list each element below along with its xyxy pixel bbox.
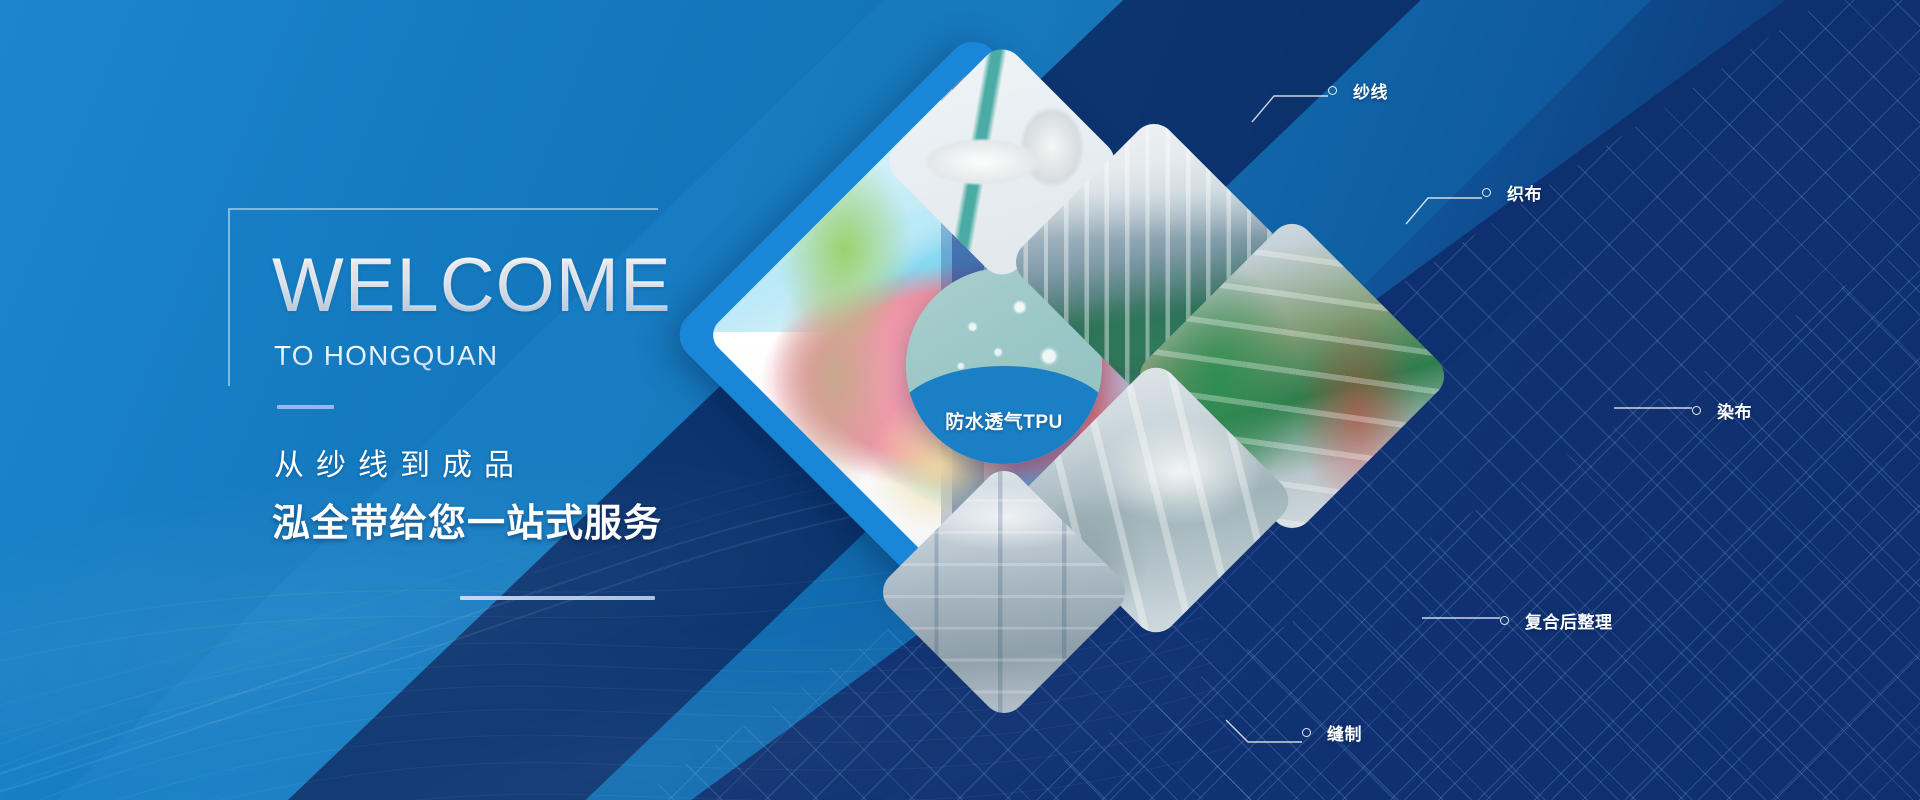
welcome-banner: WELCOME TO HONGQUAN 从纱线到成品 泓全带给您一站式服务 防水… — [0, 0, 1920, 800]
divider-long — [460, 596, 655, 600]
hero-text-block: WELCOME TO HONGQUAN 从纱线到成品 泓全带给您一站式服务 — [0, 0, 760, 800]
callout-weaving: 织布 — [1402, 180, 1542, 205]
callout-leader-line — [1248, 78, 1332, 124]
tagline-chinese-light: 从纱线到成品 — [274, 440, 526, 484]
callout-leader-line — [1612, 398, 1696, 418]
callout-leader-line — [1420, 608, 1504, 628]
callout-finishing: 复合后整理 — [1420, 608, 1613, 633]
divider-short — [277, 405, 334, 409]
callout-label: 织布 — [1507, 180, 1542, 205]
callout-label: 染布 — [1717, 398, 1752, 423]
callout-dyeing: 染布 — [1612, 398, 1752, 423]
callout-label: 纱线 — [1353, 78, 1388, 103]
callout-leader-line — [1222, 720, 1306, 766]
callout-yarn: 纱线 — [1248, 78, 1388, 103]
callout-label: 缝制 — [1327, 720, 1362, 745]
subtitle-english: TO HONGQUAN — [274, 340, 498, 372]
tagline-chinese-bold: 泓全带给您一站式服务 — [272, 492, 662, 547]
badge-label: 防水透气TPU — [906, 407, 1102, 434]
callout-label: 复合后整理 — [1525, 608, 1613, 633]
callout-leader-line — [1402, 180, 1486, 226]
page-title: WELCOME — [272, 248, 672, 324]
callout-sewing: 缝制 — [1222, 720, 1362, 745]
